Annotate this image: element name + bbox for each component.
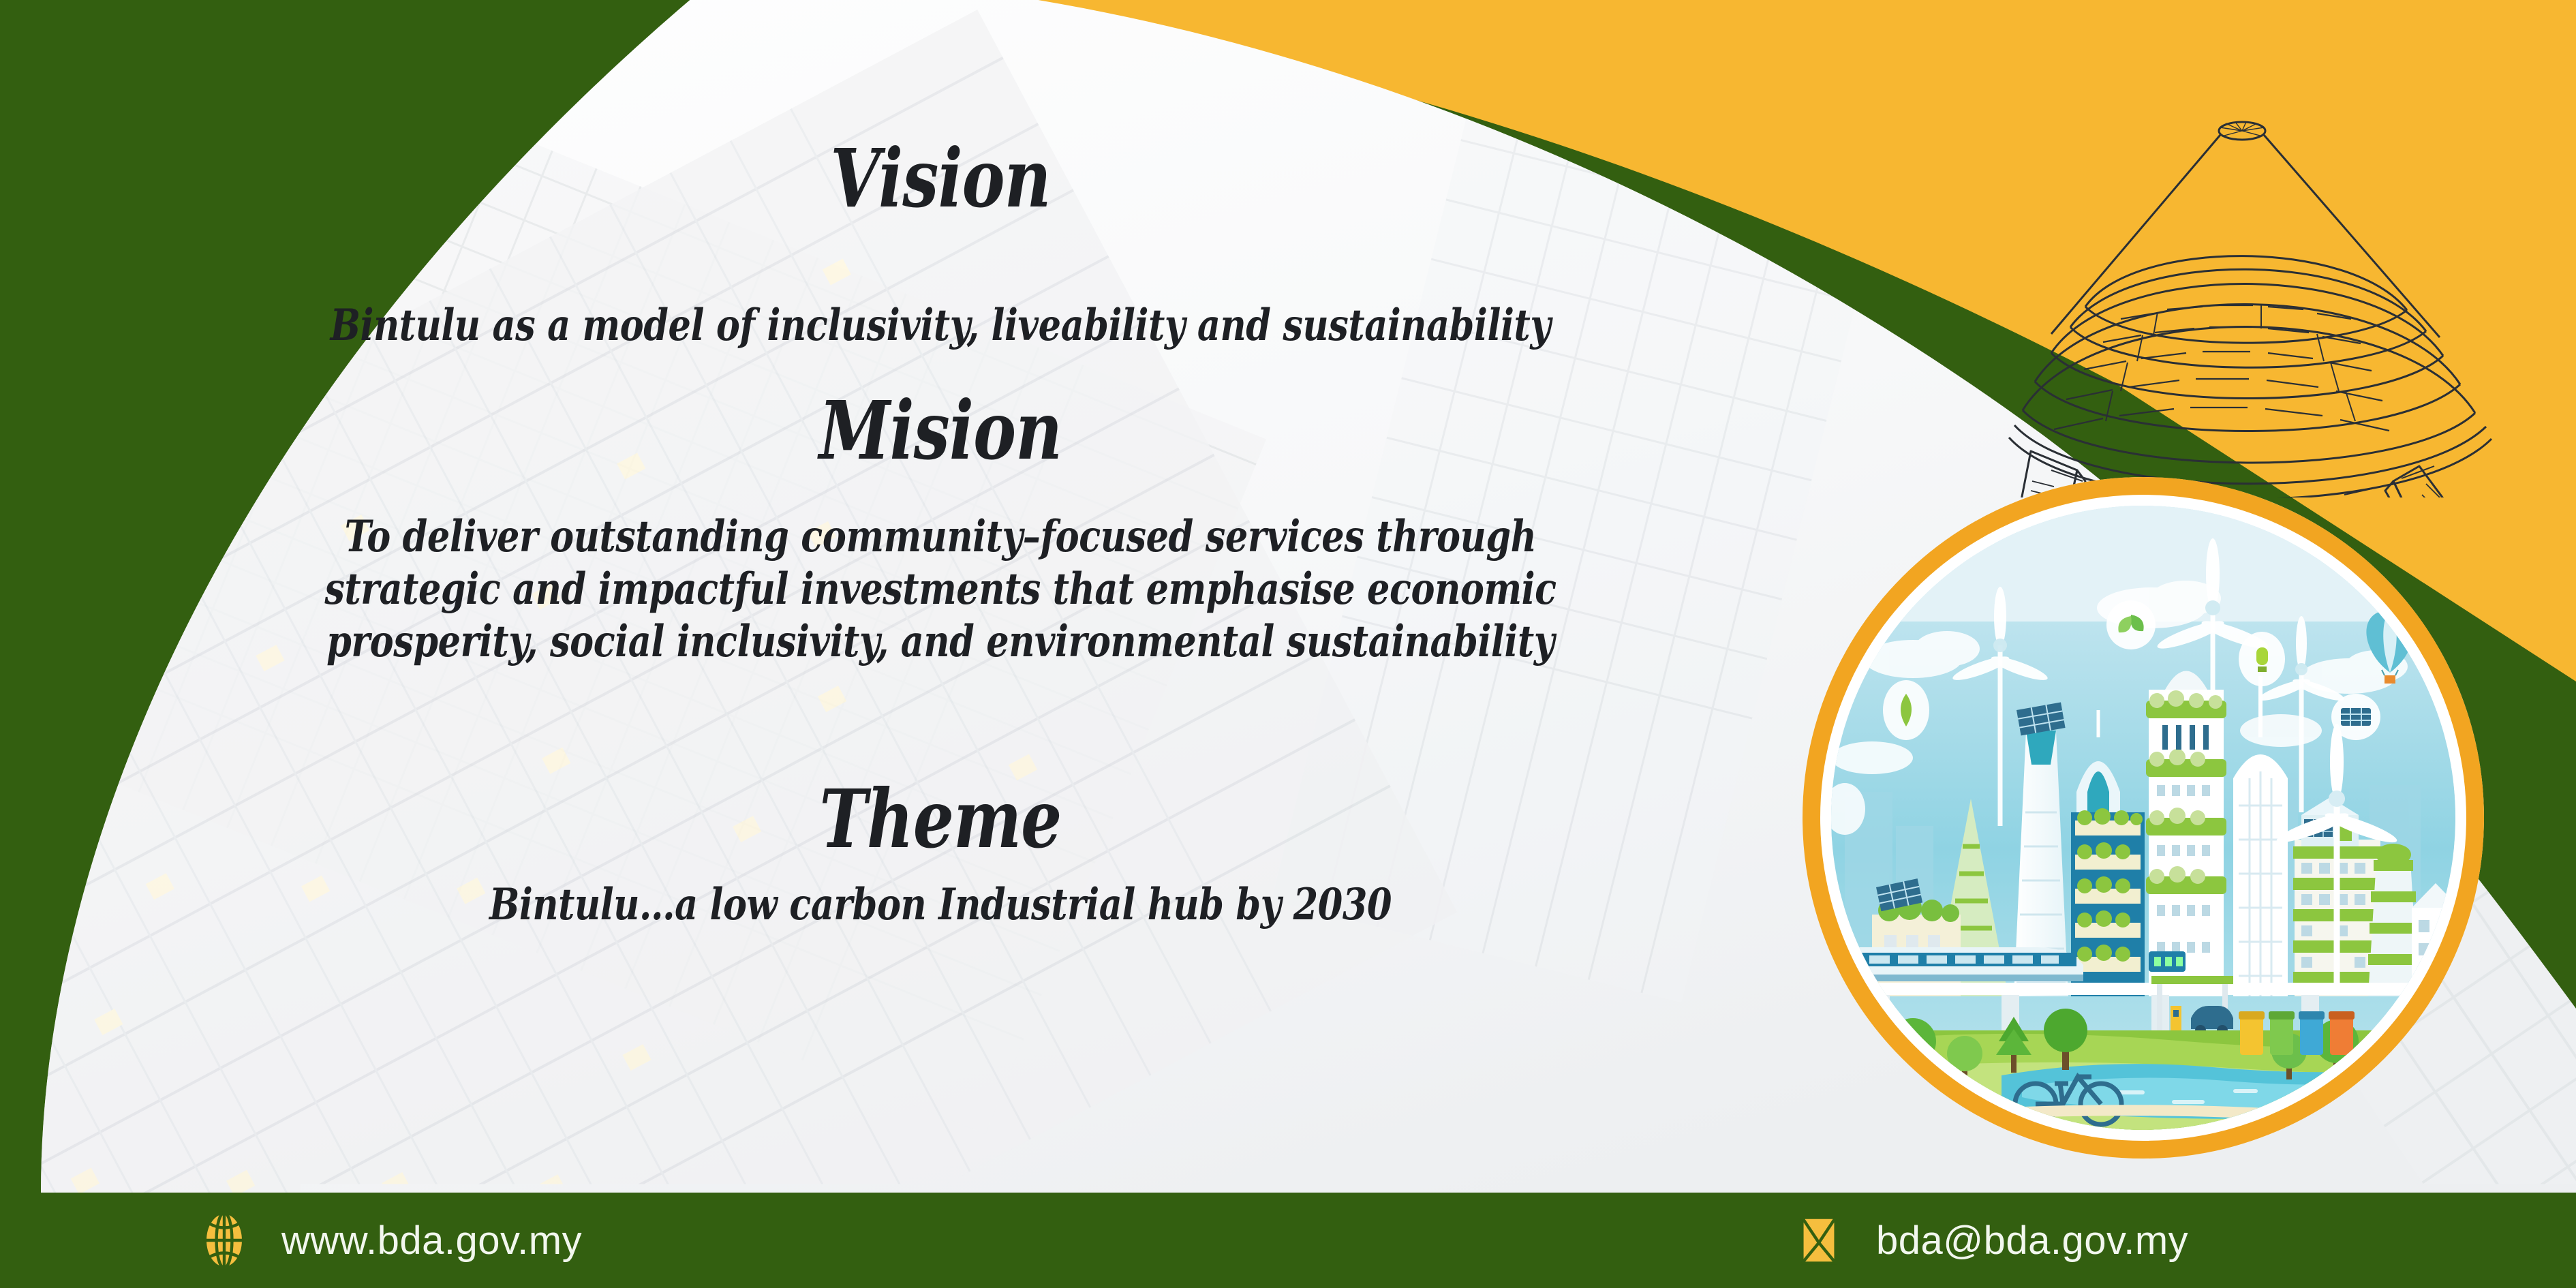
smart-city-illustration <box>1803 477 2484 1159</box>
envelope-icon <box>1789 1210 1849 1270</box>
website-text: www.bda.gov.my <box>281 1218 582 1263</box>
footer-bar: www.bda.gov.my bda@bda.gov.my <box>0 1193 2576 1288</box>
text-content: Vision Bintulu as a model of inclusivity… <box>0 0 1881 1193</box>
monument-line-drawing <box>1949 102 2549 497</box>
city-artwork <box>1831 506 2455 1130</box>
email-text: bda@bda.gov.my <box>1876 1218 2188 1263</box>
poster-canvas: Vision Bintulu as a model of inclusivity… <box>0 0 2576 1288</box>
mission-statement: To deliver outstanding community–focused… <box>0 511 1881 668</box>
mission-line-2: strategic and impactful investments that… <box>169 564 1711 616</box>
email-contact[interactable]: bda@bda.gov.my <box>1789 1208 2188 1273</box>
globe-icon <box>194 1210 254 1270</box>
website-contact[interactable]: www.bda.gov.my <box>194 1208 582 1273</box>
mission-heading: Mision <box>188 388 1693 473</box>
mission-line-1: To deliver outstanding community–focused… <box>169 511 1711 564</box>
city-illustration-clip <box>1831 506 2455 1130</box>
theme-statement: Bintulu…a low carbon Industrial hub by 2… <box>169 879 1711 932</box>
theme-heading: Theme <box>188 777 1693 861</box>
vision-statement: Bintulu as a model of inclusivity, livea… <box>169 300 1711 352</box>
vision-heading: Vision <box>188 136 1693 221</box>
mission-line-3: prosperity, social inclusivity, and envi… <box>169 616 1711 669</box>
